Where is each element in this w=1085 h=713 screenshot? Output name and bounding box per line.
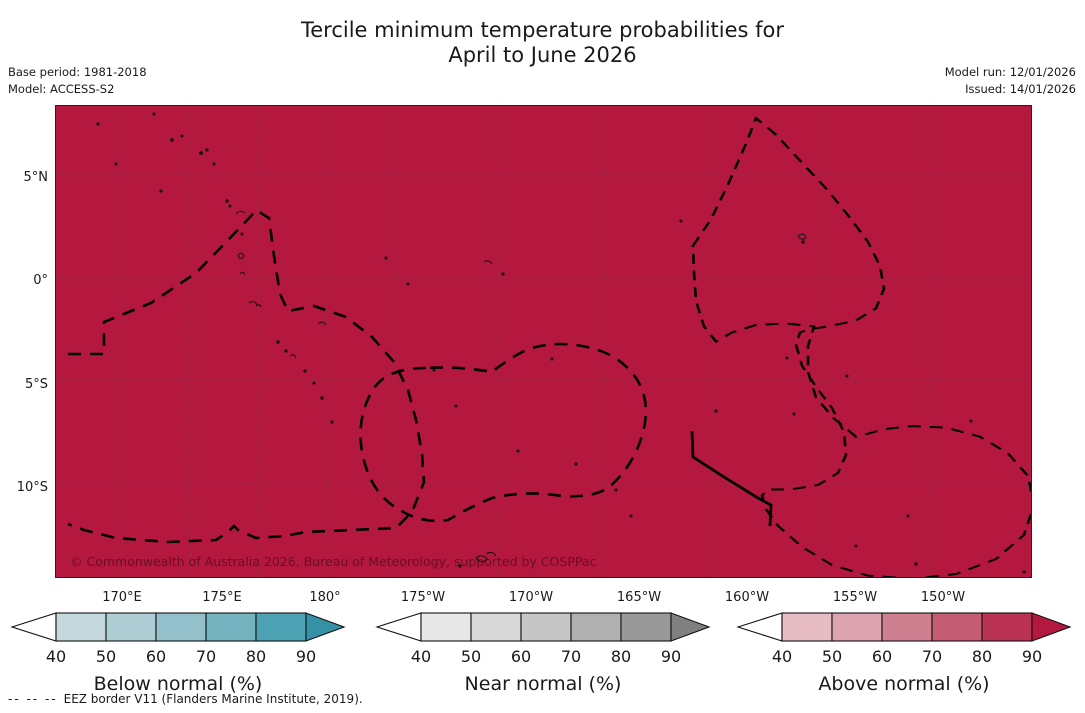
x-axis-tick-175w: 175°W — [388, 590, 458, 605]
cbar-near-bin-60-70 — [521, 613, 571, 641]
eez-border-phoenix — [361, 344, 646, 521]
eez-footnote-text: EEZ border V11 (Flanders Marine Institut… — [64, 692, 363, 706]
model-run-text: Model run: 12/01/2026 — [945, 64, 1076, 81]
cbar-near-tick-50: 50 — [461, 647, 481, 666]
issued-text: Issued: 14/01/2026 — [945, 81, 1076, 98]
eez-border-solid-segment — [692, 431, 771, 526]
colorbar-near-label: Near normal (%) — [373, 673, 713, 695]
eez-border-line-islands — [693, 118, 1032, 578]
y-axis-tick-5s: 5°S — [8, 377, 48, 392]
cbar-above-bin-80-90 — [982, 613, 1032, 641]
colorbar-near-ticks: 40 50 60 70 80 90 — [373, 647, 713, 669]
x-axis-tick-175e: 175°E — [187, 590, 257, 605]
x-axis-tick-165w: 165°W — [604, 590, 674, 605]
cbar-below-bin-60-70 — [156, 613, 206, 641]
cbar-near-bin-70-80 — [571, 613, 621, 641]
colorbar-below-normal-swatches — [8, 608, 348, 646]
cbar-below-over-arrow — [306, 613, 344, 641]
colorbar-near-normal-swatches — [373, 608, 713, 646]
metadata-right: Model run: 12/01/2026 Issued: 14/01/2026 — [945, 64, 1076, 97]
y-axis-tick-5n: 5°N — [8, 170, 48, 185]
cbar-below-tick-70: 70 — [196, 647, 216, 666]
cbar-above-bin-60-70 — [882, 613, 932, 641]
cbar-above-bin-40-50 — [782, 613, 832, 641]
colorbar-near-normal[interactable]: 40 50 60 70 80 90 Near normal (%) — [373, 608, 713, 703]
colorbar-above-ticks: 40 50 60 70 80 90 — [734, 647, 1074, 669]
y-axis-tick-10s: 10°S — [2, 480, 48, 495]
cbar-near-bin-50-60 — [471, 613, 521, 641]
base-period-text: Base period: 1981-2018 — [8, 64, 147, 81]
colorbar-below-ticks: 40 50 60 70 80 90 — [8, 647, 348, 669]
page-title: Tercile minimum temperature probabilitie… — [0, 18, 1085, 68]
cbar-near-tick-80: 80 — [611, 647, 631, 666]
colorbar-above-label: Above normal (%) — [734, 673, 1074, 695]
cbar-near-tick-70: 70 — [561, 647, 581, 666]
map-gridlines — [56, 106, 1032, 578]
y-axis-tick-0: 0° — [8, 273, 48, 288]
cbar-above-tick-40: 40 — [772, 647, 792, 666]
cbar-below-bin-80-90 — [256, 613, 306, 641]
eez-border-gilbert — [68, 210, 424, 542]
x-axis-tick-170e: 170°E — [87, 590, 157, 605]
cbar-above-tick-90: 90 — [1022, 647, 1042, 666]
cbar-below-bin-70-80 — [206, 613, 256, 641]
cbar-below-tick-40: 40 — [46, 647, 66, 666]
cbar-near-bin-40-50 — [421, 613, 471, 641]
cbar-below-bin-40-50 — [56, 613, 106, 641]
colorbar-above-normal[interactable]: 40 50 60 70 80 90 Above normal (%) — [734, 608, 1074, 703]
cbar-below-tick-80: 80 — [246, 647, 266, 666]
cbar-above-tick-50: 50 — [822, 647, 842, 666]
cbar-near-under-arrow — [377, 613, 421, 641]
colorbar-above-normal-swatches — [734, 608, 1074, 646]
cbar-near-tick-60: 60 — [511, 647, 531, 666]
title-line-2: April to June 2026 — [0, 43, 1085, 68]
x-axis-tick-160w: 160°W — [712, 590, 782, 605]
cbar-below-bin-50-60 — [106, 613, 156, 641]
cbar-above-tick-60: 60 — [872, 647, 892, 666]
metadata-left: Base period: 1981-2018 Model: ACCESS-S2 — [8, 64, 147, 97]
eez-dash-sample-icon: -- -- -- — [8, 693, 58, 705]
cbar-above-tick-70: 70 — [922, 647, 942, 666]
cbar-above-bin-50-60 — [832, 613, 882, 641]
title-line-1: Tercile minimum temperature probabilitie… — [0, 18, 1085, 43]
x-axis-tick-170w: 170°W — [496, 590, 566, 605]
cbar-below-tick-90: 90 — [296, 647, 316, 666]
cbar-near-bin-80-90 — [621, 613, 671, 641]
probability-map[interactable]: © Commonwealth of Australia 2026, Bureau… — [55, 105, 1032, 578]
x-axis-tick-155w: 155°W — [820, 590, 890, 605]
cbar-above-under-arrow — [738, 613, 782, 641]
cbar-near-over-arrow — [671, 613, 709, 641]
x-axis-tick-150w: 150°W — [908, 590, 978, 605]
cbar-below-under-arrow — [12, 613, 56, 641]
cbar-above-tick-80: 80 — [972, 647, 992, 666]
cbar-above-bin-70-80 — [932, 613, 982, 641]
cbar-below-tick-60: 60 — [146, 647, 166, 666]
cbar-near-tick-40: 40 — [411, 647, 431, 666]
cbar-below-tick-50: 50 — [96, 647, 116, 666]
eez-footnote: -- -- -- EEZ border V11 (Flanders Marine… — [8, 692, 363, 706]
x-axis-tick-180: 180° — [290, 590, 360, 605]
model-text: Model: ACCESS-S2 — [8, 81, 147, 98]
cbar-near-tick-90: 90 — [661, 647, 681, 666]
map-canvas — [56, 106, 1032, 578]
cbar-above-over-arrow — [1032, 613, 1070, 641]
colorbar-below-normal[interactable]: 40 50 60 70 80 90 Below normal (%) — [8, 608, 348, 703]
